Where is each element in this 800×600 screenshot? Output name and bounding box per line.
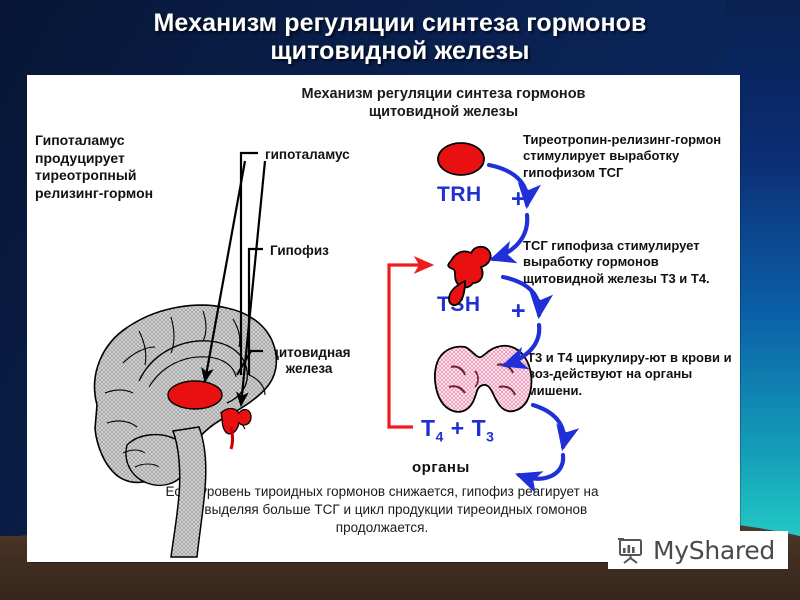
label-pituitary: Гипофиз — [270, 243, 329, 259]
page-title: Механизм регуляции синтеза гормонов щито… — [153, 9, 646, 66]
slide-header: Механизм регуляции синтеза гормонов щито… — [0, 0, 800, 74]
organ-thyroid-icon — [435, 346, 532, 412]
blue-arrows — [489, 165, 564, 479]
arrow-thyroid-top — [533, 405, 564, 447]
label-thyroid: щитовидная железа — [249, 345, 369, 377]
right-caption-t3t4: Т3 и Т4 циркулиру-ют в крови и воз-дейст… — [527, 350, 743, 399]
leader-brackets — [237, 153, 263, 375]
brain-hypothalamus-marker — [168, 381, 222, 409]
diagram-title: Механизм регуляции синтеза гормонов щито… — [27, 85, 740, 121]
feedback-loop-red — [389, 265, 431, 427]
diagram-panel: Механизм регуляции синтеза гормонов щито… — [27, 75, 740, 562]
slide-canvas: Механизм регуляции синтеза гормонов щито… — [0, 0, 800, 600]
label-hypothalamus: гипоталамус — [265, 147, 350, 163]
page-title-line-1: Механизм регуляции синтеза гормонов — [153, 9, 646, 37]
watermark-label: MyShared — [653, 536, 775, 565]
label-trh: TRH — [437, 183, 482, 207]
label-t4-t3: T4 + T3 — [421, 415, 494, 445]
arrow-feedback-to-pituitary — [389, 265, 431, 427]
plus-sign-tsh: + — [511, 297, 526, 326]
page-title-line-2: щитовидной железы — [270, 37, 529, 65]
presentation-board-icon — [616, 536, 646, 564]
right-caption-tsh: ТСГ гипофиза стимулирует выработку гормо… — [523, 238, 739, 287]
label-organs: органы — [412, 459, 470, 476]
label-tsh: TSH — [437, 293, 481, 317]
left-caption: Гипоталамус продуцирует тиреотропный рел… — [35, 132, 185, 203]
diagram-title-line-2: щитовидной железы — [369, 104, 518, 120]
bottom-caption: Если уровень тироидных гормонов снижаетс… — [157, 483, 607, 538]
arrow-thyroid-to-organs — [519, 455, 563, 479]
plus-sign-trh: + — [511, 185, 526, 214]
right-caption-trh: Тиреотропин-релизинг-гормон стимулирует … — [523, 132, 739, 181]
organ-hypothalamus-icon — [438, 143, 484, 175]
watermark: MyShared — [608, 531, 788, 569]
pointer-to-hypothalamus — [205, 161, 245, 381]
bracket-hypothalamus — [241, 153, 258, 375]
diagram-title-line-1: Механизм регуляции синтеза гормонов — [302, 86, 586, 102]
brain-pituitary-marker — [221, 409, 251, 434]
